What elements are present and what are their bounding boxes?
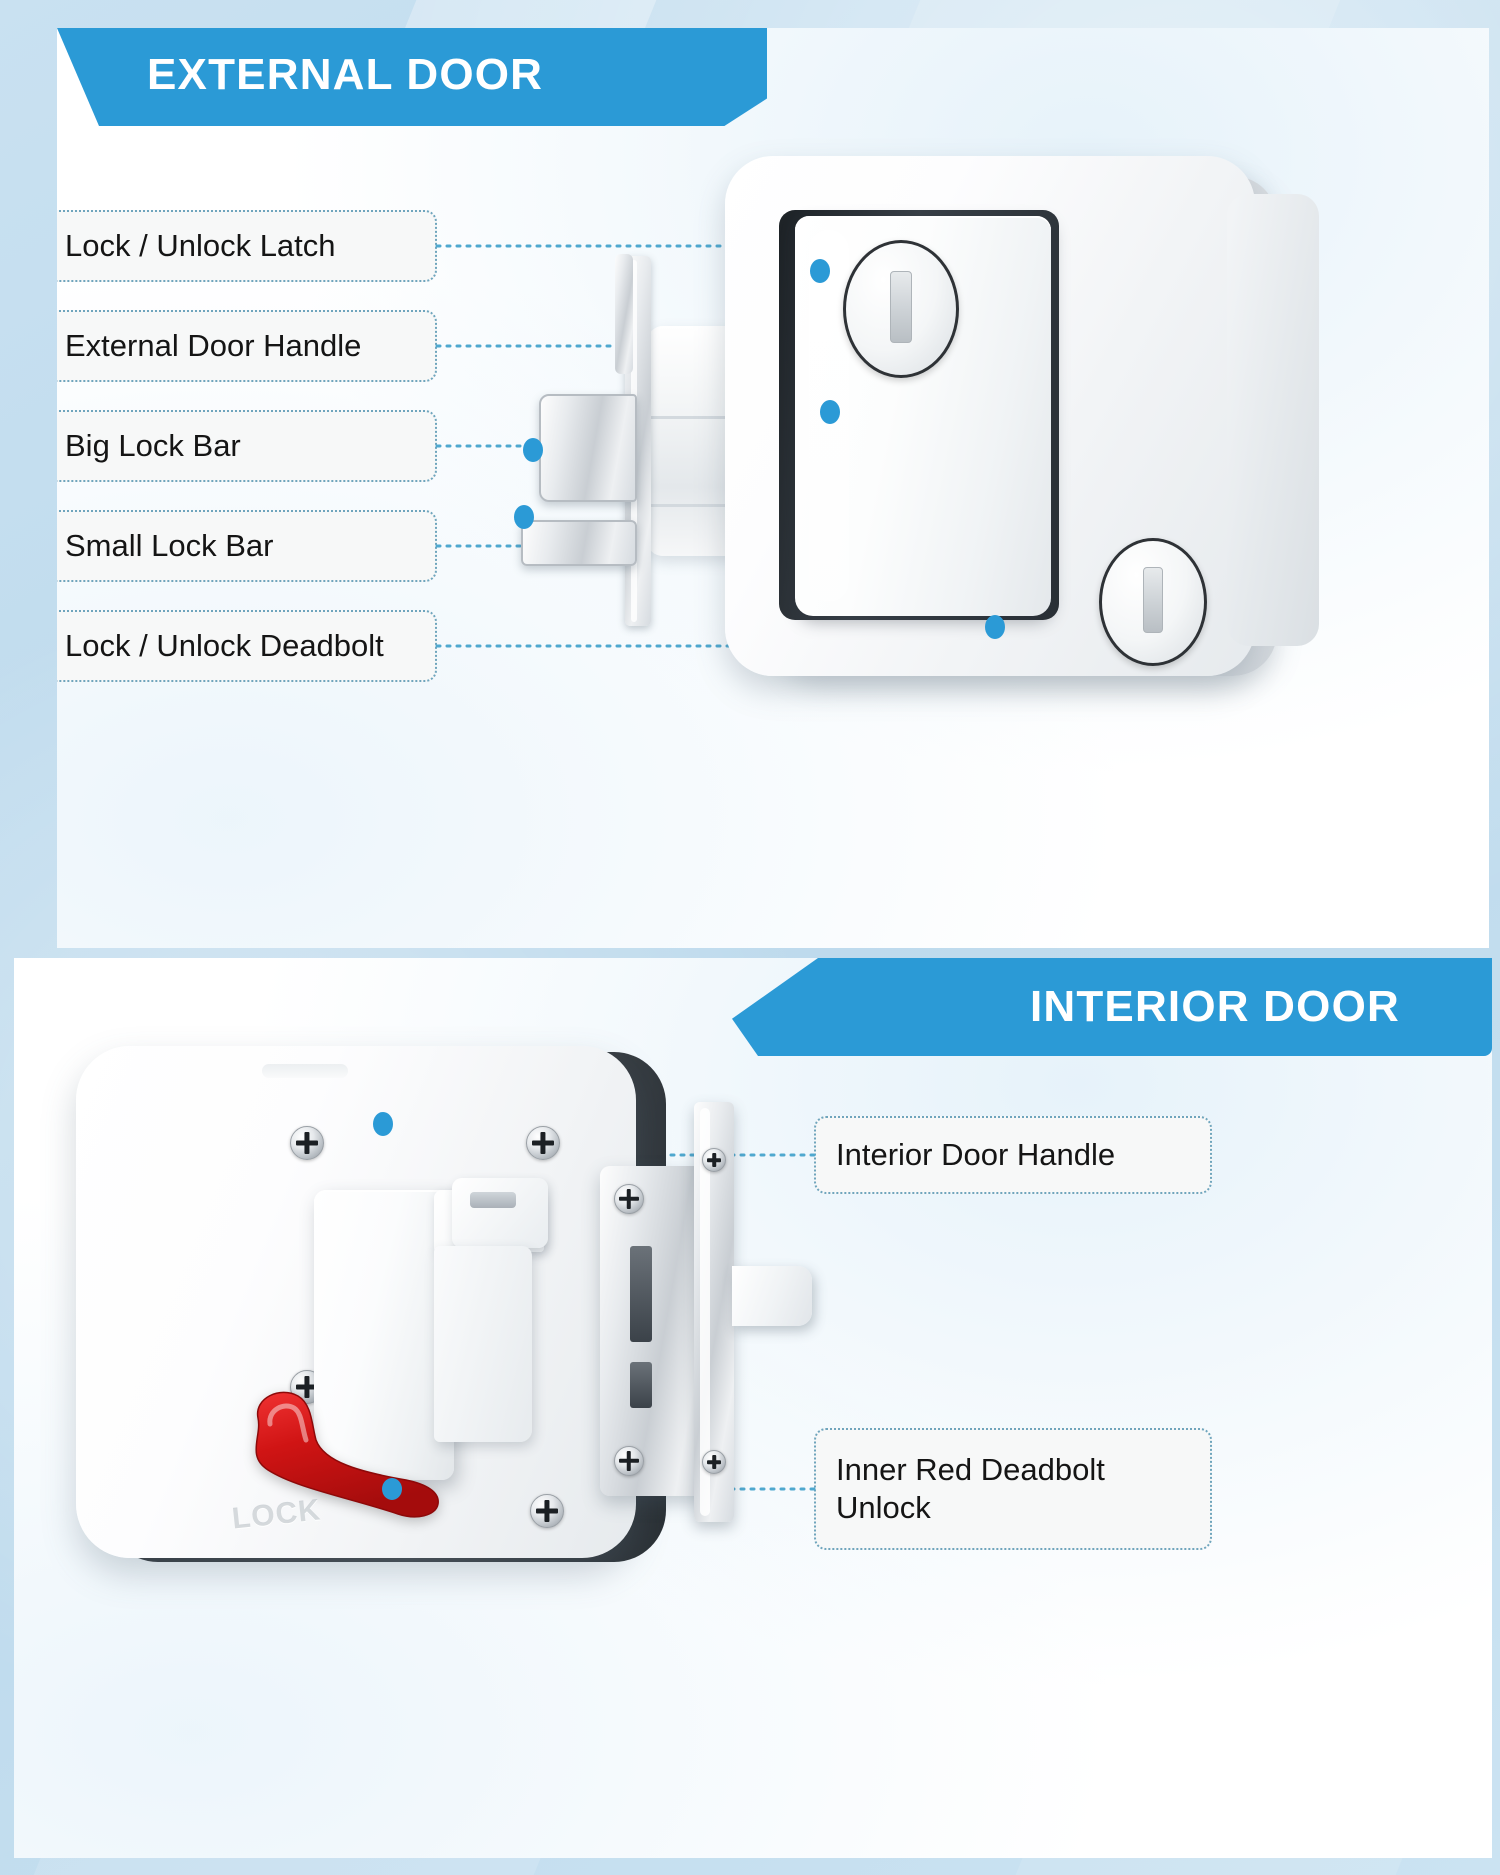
red-deadbolt-lever[interactable] bbox=[220, 1384, 450, 1524]
callout-lock-unlock-latch[interactable]: Lock / Unlock Latch bbox=[57, 210, 437, 282]
dot-inner-red-deadbolt bbox=[382, 1478, 402, 1500]
mounting-screw bbox=[290, 1126, 324, 1160]
dot-lock-unlock-latch bbox=[810, 259, 830, 283]
callout-label: Inner Red Deadbolt Unlock bbox=[836, 1451, 1190, 1527]
mounting-screw bbox=[526, 1126, 560, 1160]
callout-label: Small Lock Bar bbox=[65, 527, 273, 565]
callout-big-lock-bar[interactable]: Big Lock Bar bbox=[57, 410, 437, 482]
latch-bolt bbox=[732, 1266, 812, 1326]
callout-label: External Door Handle bbox=[65, 327, 361, 365]
callout-label: Interior Door Handle bbox=[836, 1136, 1115, 1174]
dot-lock-unlock-deadbolt bbox=[985, 615, 1005, 639]
external-door-section: EXTERNAL DOOR Lock / Unlock Latch Extern… bbox=[57, 28, 1489, 948]
callout-inner-red-deadbolt-unlock[interactable]: Inner Red Deadbolt Unlock bbox=[814, 1428, 1212, 1550]
dot-big-lock-bar bbox=[523, 438, 543, 462]
interior-handle-hub-slot bbox=[470, 1192, 516, 1208]
banner-external-door: EXTERNAL DOOR bbox=[57, 28, 767, 126]
upper-keyhole-icon bbox=[890, 271, 912, 343]
banner-interior-door-title: INTERIOR DOOR bbox=[1030, 982, 1400, 1032]
callout-label: Lock / Unlock Deadbolt bbox=[65, 627, 384, 665]
callout-label: Lock / Unlock Latch bbox=[65, 227, 336, 265]
product-image-interior-lock: LOCK bbox=[34, 998, 864, 1648]
latch-mechanism-slot bbox=[630, 1362, 652, 1408]
latch-mechanism-slot bbox=[630, 1246, 652, 1342]
dot-external-door-handle bbox=[820, 400, 840, 424]
interior-handle-hub bbox=[452, 1178, 548, 1248]
mechanism-screw bbox=[614, 1446, 644, 1476]
mechanism-screw bbox=[614, 1184, 644, 1214]
strike-screw bbox=[702, 1148, 726, 1172]
big-lock-bar bbox=[539, 394, 637, 502]
mounting-screw bbox=[530, 1494, 564, 1528]
callout-external-door-handle[interactable]: External Door Handle bbox=[57, 310, 437, 382]
callout-interior-door-handle[interactable]: Interior Door Handle bbox=[814, 1116, 1212, 1194]
callout-lock-unlock-deadbolt[interactable]: Lock / Unlock Deadbolt bbox=[57, 610, 437, 682]
callout-label: Big Lock Bar bbox=[65, 427, 241, 465]
dot-interior-door-handle bbox=[373, 1112, 393, 1136]
small-lock-bar bbox=[521, 520, 637, 566]
strike-screw bbox=[702, 1450, 726, 1474]
latch-tongue bbox=[615, 254, 633, 374]
upper-key-cylinder[interactable] bbox=[843, 240, 959, 378]
lower-key-cylinder[interactable] bbox=[1099, 538, 1207, 666]
callout-small-lock-bar[interactable]: Small Lock Bar bbox=[57, 510, 437, 582]
infographic-page: EXTERNAL DOOR Lock / Unlock Latch Extern… bbox=[0, 0, 1500, 1875]
interior-door-section: INTERIOR DOOR Interior Door Handle Inner… bbox=[14, 958, 1492, 1858]
lower-keyhole-icon bbox=[1143, 567, 1163, 633]
interior-plate-notch bbox=[262, 1064, 348, 1078]
dot-small-lock-bar bbox=[514, 505, 534, 529]
banner-external-door-title: EXTERNAL DOOR bbox=[147, 50, 543, 100]
product-image-external-lock bbox=[527, 148, 1327, 748]
exterior-frame-edge bbox=[1227, 194, 1319, 646]
